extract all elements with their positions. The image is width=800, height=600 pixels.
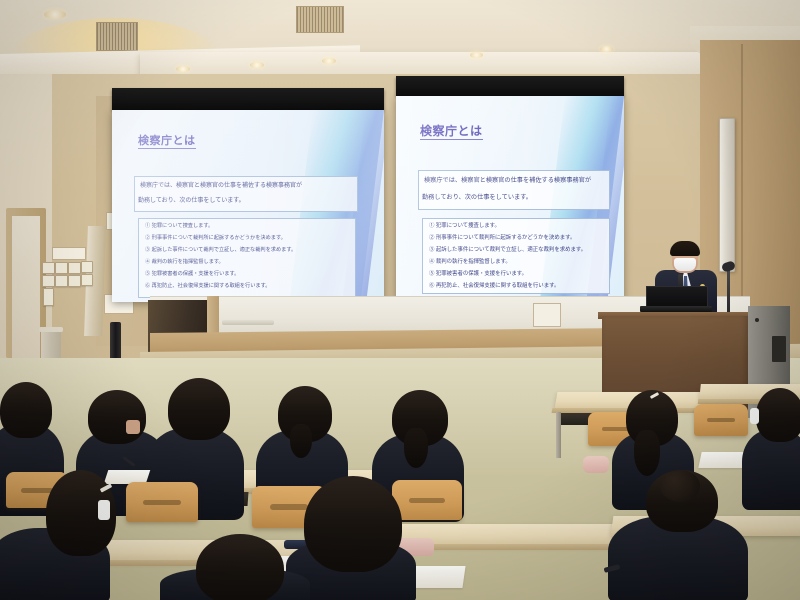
speaker-hair bbox=[670, 241, 700, 256]
slide-content: 検察庁とは 検察庁では、検察官と検察官の仕事を補佐する検察事務官が 勤務しており… bbox=[396, 96, 624, 300]
student-hair bbox=[0, 382, 52, 438]
student-body bbox=[742, 430, 800, 510]
lecture-hall-photo: 検察庁とは 検察庁では、検察官と検察官の仕事を補佐する検察事務官が 勤務しており… bbox=[0, 0, 800, 600]
slide-list-box: ① 犯罪について捜査します。 ② 刑事事件について裁判所に起訴するかどうかを決め… bbox=[422, 218, 610, 294]
slide-list-item: ⑤ 犯罪被害者の保護・支援を行います。 bbox=[429, 269, 527, 277]
light-switch[interactable] bbox=[81, 274, 93, 286]
desk-leg bbox=[556, 412, 561, 458]
chair bbox=[126, 482, 198, 522]
screen-valance bbox=[396, 76, 624, 96]
chair-handle-cutout bbox=[21, 488, 53, 493]
slide-list-item: ④ 裁判の執行を指揮監督します。 bbox=[145, 258, 224, 265]
light-switch[interactable] bbox=[81, 261, 93, 273]
slide-list-box: ① 犯罪について捜査します。 ② 刑事事件について裁判所に起訴するかどうかを決め… bbox=[138, 218, 356, 298]
slide-list-item: ③ 起訴した事件について裁判で立証し、適正な裁判を求めます。 bbox=[429, 245, 586, 253]
student-hair bbox=[88, 390, 146, 444]
slide-intro-box: 検察庁では、検察官と検察官の仕事を補佐する検察事務官が 勤務しており、次の仕事を… bbox=[134, 176, 358, 212]
student-ponytail bbox=[634, 430, 660, 476]
face-mask-icon bbox=[98, 500, 110, 520]
left-projector-screen: 検察庁とは 検察庁では、検察官と検察官の仕事を補佐する検察事務官が 勤務しており… bbox=[112, 88, 384, 306]
slide-intro-line-2: 勤務しており、次の仕事をしています。 bbox=[422, 192, 532, 201]
rack-slot bbox=[772, 336, 786, 362]
side-door-opening bbox=[12, 216, 40, 358]
chair-handle-cutout bbox=[409, 498, 445, 503]
student-hair bbox=[196, 534, 284, 600]
ceiling-vent-left bbox=[96, 22, 138, 51]
slide-list-item: ② 刑事事件について裁判所に起訴するかどうかを決めます。 bbox=[145, 234, 286, 241]
slide-list-item: ③ 起訴した事件について裁判で立証し、適正な裁判を求めます。 bbox=[145, 246, 296, 253]
downlight-icon bbox=[600, 46, 613, 52]
chair-handle-cutout bbox=[270, 504, 308, 509]
ceiling-vent-right bbox=[296, 6, 344, 33]
trash-bin-lid bbox=[39, 327, 63, 332]
light-switch[interactable] bbox=[55, 275, 68, 287]
face-mask-icon bbox=[750, 408, 759, 424]
slide-list-item: ⑥ 再犯防止、社会復帰支援に関する取組を行います。 bbox=[145, 282, 270, 289]
wall-poster bbox=[533, 303, 561, 327]
screen-valance bbox=[112, 88, 384, 110]
chair-handle-cutout bbox=[707, 418, 735, 422]
slide-list-item: ① 犯罪について捜査します。 bbox=[429, 221, 500, 229]
slide-intro-line-1: 検察庁では、検察官と検察官の仕事を補佐する検察事務官が bbox=[424, 175, 591, 184]
slide-list-item: ① 犯罪について捜査します。 bbox=[145, 222, 213, 229]
downlight-icon bbox=[322, 58, 336, 64]
microphone-stand bbox=[727, 268, 730, 312]
right-projector-screen: 検察庁とは 検察庁では、検察官と検察官の仕事を補佐する検察事務官が 勤務しており… bbox=[396, 76, 624, 302]
student-ponytail bbox=[290, 424, 312, 458]
chair bbox=[694, 404, 748, 436]
slide-list-item: ⑤ 犯罪被害者の保護・支援を行います。 bbox=[145, 270, 239, 277]
downlight-icon bbox=[176, 66, 190, 72]
rack-slot bbox=[755, 318, 759, 322]
hair-bun bbox=[660, 470, 700, 502]
slide-title: 検察庁とは bbox=[138, 132, 196, 149]
wall-switch-single[interactable] bbox=[43, 288, 54, 306]
downlight-icon bbox=[44, 10, 66, 19]
chair bbox=[392, 480, 462, 520]
screen-surface: 検察庁とは 検察庁では、検察官と検察官の仕事を補佐する検察事務官が 勤務しており… bbox=[396, 96, 624, 300]
whiteboard-pen-tray bbox=[222, 320, 274, 325]
student-neck bbox=[126, 420, 140, 434]
slide-title: 検察庁とは bbox=[420, 122, 483, 140]
light-switch[interactable] bbox=[68, 275, 81, 287]
slide-intro-line-1: 検察庁では、検察官と検察官の仕事を補佐する検察事務官が bbox=[140, 180, 302, 189]
wall-speaker-icon bbox=[719, 118, 735, 272]
student-hair bbox=[304, 476, 402, 572]
face-mask-icon bbox=[674, 258, 696, 271]
student-hair bbox=[756, 388, 800, 442]
slide-content: 検察庁とは 検察庁では、検察官と検察官の仕事を補佐する検察事務官が 勤務しており… bbox=[112, 110, 384, 302]
chair-handle-cutout bbox=[143, 500, 180, 505]
downlight-icon bbox=[250, 62, 264, 68]
slide-list-item: ② 刑事事件について裁判所に起訴するかどうかを決めます。 bbox=[429, 233, 575, 241]
slide-intro-box: 検察庁では、検察官と検察官の仕事を補佐する検察事務官が 勤務しており、次の仕事を… bbox=[418, 170, 610, 210]
wall-label-card bbox=[52, 247, 86, 260]
downlight-icon bbox=[470, 52, 483, 58]
screen-surface: 検察庁とは 検察庁では、検察官と検察官の仕事を補佐する検察事務官が 勤務しており… bbox=[112, 110, 384, 302]
slide-intro-line-2: 勤務しており、次の仕事をしています。 bbox=[138, 195, 245, 204]
light-switch[interactable] bbox=[55, 262, 68, 274]
student-ponytail bbox=[404, 428, 428, 468]
slide-list-item: ④ 裁判の執行を指揮監督します。 bbox=[429, 257, 511, 265]
light-switch[interactable] bbox=[42, 275, 55, 287]
light-switch[interactable] bbox=[42, 262, 55, 274]
light-switch[interactable] bbox=[68, 262, 81, 274]
student-hair bbox=[168, 378, 230, 440]
slide-list-item: ⑥ 再犯防止、社会復帰支援に関する取組を行います。 bbox=[429, 281, 559, 289]
pink-pouch bbox=[583, 456, 609, 473]
